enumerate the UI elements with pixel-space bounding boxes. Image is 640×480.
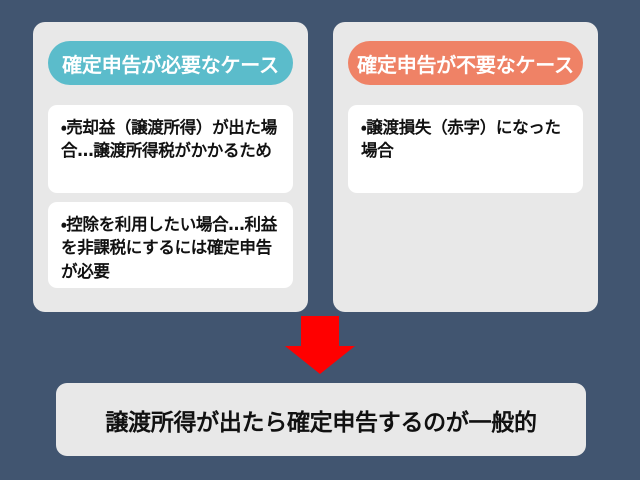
conclusion-text: 譲渡所得が出たら確定申告するのが一般的	[105, 403, 536, 437]
panel-not-required-cases: 確定申告が不要なケース ・譲渡損失（赤字）になった場合	[333, 22, 598, 312]
panel-required-cases: 確定申告が必要なケース ・売却益（譲渡所得）が出た場合…譲渡所得税がかかるため …	[33, 22, 308, 312]
diagram-canvas: 確定申告が必要なケース ・売却益（譲渡所得）が出た場合…譲渡所得税がかかるため …	[0, 0, 640, 480]
list-item: ・譲渡損失（赤字）になった場合	[348, 105, 583, 193]
panel-header-required: 確定申告が必要なケース	[48, 41, 293, 85]
list-item: ・控除を利用したい場合…利益を非課税にするには確定申告が必要	[48, 202, 293, 288]
panel-header-not-required: 確定申告が不要なケース	[348, 41, 583, 85]
list-item: ・売却益（譲渡所得）が出た場合…譲渡所得税がかかるため	[48, 105, 293, 193]
conclusion-box: 譲渡所得が出たら確定申告するのが一般的	[56, 383, 586, 456]
down-arrow-icon	[285, 316, 355, 374]
